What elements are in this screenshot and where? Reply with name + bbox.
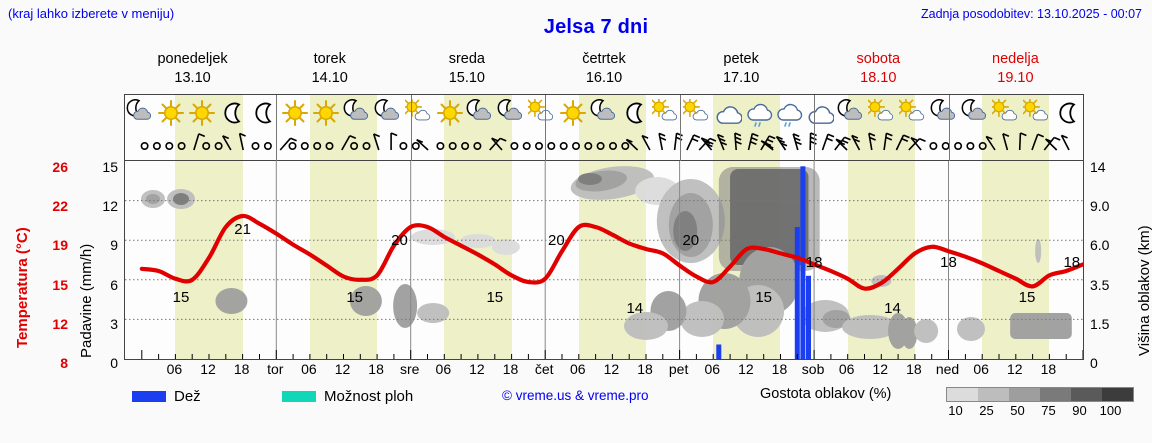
day-separator — [680, 95, 681, 161]
precipitation-axis-title: Padavine (mm/h) — [78, 244, 95, 358]
x-axis-label: tor — [267, 361, 283, 377]
temperature-label: 18 — [806, 254, 823, 271]
prec-tick: 0 — [110, 356, 118, 370]
cloud-density-tick: 100 — [1095, 403, 1126, 418]
cloud-density-swatch — [947, 388, 978, 401]
day-name: nedelja — [947, 50, 1084, 69]
day-header-sreda: sreda15.10 — [398, 50, 535, 92]
cloud-tick: 1.5 — [1090, 317, 1109, 331]
day-name: četrtek — [535, 50, 672, 69]
day-separator — [949, 95, 950, 161]
x-axis-label: 18 — [906, 361, 922, 377]
x-axis-label: 06 — [839, 361, 855, 377]
day-header-ponedeljek: ponedeljek13.10 — [124, 50, 261, 92]
chart-svg: 1521152015201420151814181518 — [125, 161, 1083, 359]
x-axis-label: 12 — [200, 361, 216, 377]
temp-tick: 26 — [52, 160, 68, 174]
legend-showers: Možnost ploh — [282, 388, 413, 405]
cloud-density-tick: 50 — [1002, 403, 1033, 418]
day-separators-strips — [125, 95, 1083, 161]
x-axis-label: 18 — [1041, 361, 1057, 377]
temperature-label: 20 — [391, 232, 408, 249]
cloud-density-tick: 90 — [1064, 403, 1095, 418]
x-axis-labels: 061218tor061218sre061218čet061218pet0612… — [124, 361, 1084, 381]
day-date: 18.10 — [810, 69, 947, 88]
day-date: 15.10 — [398, 69, 535, 88]
temp-tick: 19 — [52, 238, 68, 252]
cloud-density-colorbar-ticks: 1025507590100 — [940, 403, 1126, 418]
temperature-label: 18 — [1063, 254, 1080, 271]
temperature-axis-ticks: 26221915128 — [32, 160, 68, 370]
x-axis-label: 18 — [234, 361, 250, 377]
x-axis-label: 06 — [436, 361, 452, 377]
prec-tick: 12 — [102, 199, 118, 213]
temp-tick: 8 — [60, 356, 68, 370]
legend-rain: Dež — [132, 388, 201, 405]
cloud-density-swatch — [1009, 388, 1040, 401]
temperature-label: 15 — [173, 289, 190, 306]
day-name: petek — [673, 50, 810, 69]
day-header-petek: petek17.10 — [673, 50, 810, 92]
day-separator — [411, 95, 412, 161]
legend-rain-label: Dež — [174, 388, 201, 405]
temperature-label: 15 — [755, 289, 772, 306]
cloud-density-colorbar — [946, 387, 1134, 402]
temp-tick: 12 — [52, 317, 68, 331]
cloud-tick: 9.0 — [1090, 199, 1109, 213]
day-separator — [814, 95, 815, 161]
forecast-plot: 1521152015201420151814181518 — [124, 94, 1084, 360]
rain-swatch — [132, 391, 166, 402]
temperature-label: 15 — [486, 289, 503, 306]
x-axis-label: 18 — [637, 361, 653, 377]
x-axis-label: 18 — [772, 361, 788, 377]
x-axis-label: 18 — [368, 361, 384, 377]
day-date: 16.10 — [535, 69, 672, 88]
last-updated: Zadnja posodobitev: 13.10.2025 - 00:07 — [921, 7, 1142, 21]
cloud-density-tick: 10 — [940, 403, 971, 418]
cloud-density-swatch — [978, 388, 1009, 401]
day-name: sobota — [810, 50, 947, 69]
x-axis-label: 06 — [301, 361, 317, 377]
day-name: torek — [261, 50, 398, 69]
cloud-tick: 6.0 — [1090, 238, 1109, 252]
day-header-četrtek: četrtek16.10 — [535, 50, 672, 92]
cloud-density-tick: 75 — [1033, 403, 1064, 418]
temp-tick: 22 — [52, 199, 68, 213]
cloud-tick: 14 — [1090, 160, 1106, 174]
x-axis-label: 06 — [973, 361, 989, 377]
x-axis-label: 12 — [1007, 361, 1023, 377]
temperature-label: 20 — [548, 232, 565, 249]
temperature-value-labels: 1521152015201420151814181518 — [173, 221, 1080, 317]
day-header-nedelja: nedelja19.10 — [947, 50, 1084, 92]
precipitation-axis-ticks: 15129630 — [96, 160, 118, 370]
cloudheight-axis-ticks: 149.06.03.51.50 — [1090, 160, 1132, 370]
day-header-sobota: sobota18.10 — [810, 50, 947, 92]
cloud-density-swatch — [1040, 388, 1071, 401]
prec-tick: 9 — [110, 238, 118, 252]
prec-tick: 6 — [110, 278, 118, 292]
prec-tick: 3 — [110, 317, 118, 331]
x-axis-label: 06 — [704, 361, 720, 377]
day-name: ponedeljek — [124, 50, 261, 69]
temperature-label: 14 — [626, 300, 643, 317]
x-axis-label: 06 — [570, 361, 586, 377]
x-axis-label: sob — [802, 361, 825, 377]
cloud-tick: 3.5 — [1090, 278, 1109, 292]
prec-tick: 15 — [102, 160, 118, 174]
temperature-curve — [142, 216, 1083, 289]
day-date: 13.10 — [124, 69, 261, 88]
temperature-axis-title: Temperatura (°C) — [14, 227, 31, 348]
day-name: sreda — [398, 50, 535, 69]
x-axis-label: 06 — [167, 361, 183, 377]
x-axis-label: 12 — [469, 361, 485, 377]
temperature-label: 21 — [234, 221, 251, 238]
chart-canvas: 1521152015201420151814181518 — [125, 161, 1083, 359]
day-date: 17.10 — [673, 69, 810, 88]
x-axis-label: čet — [535, 361, 554, 377]
copyright-link[interactable]: © vreme.us & vreme.pro — [502, 388, 649, 403]
cloud-tick: 0 — [1090, 356, 1098, 370]
cloud-density-field — [141, 161, 1072, 349]
day-date: 14.10 — [261, 69, 398, 88]
day-separator — [545, 95, 546, 161]
x-axis-label: sre — [400, 361, 419, 377]
x-axis-label: pet — [669, 361, 688, 377]
x-axis-tick-marks — [142, 350, 1083, 359]
day-header-torek: torek14.10 — [261, 50, 398, 92]
showers-swatch — [282, 391, 316, 402]
x-axis-label: 18 — [503, 361, 519, 377]
temperature-label: 15 — [1019, 289, 1036, 306]
x-axis-label: 12 — [873, 361, 889, 377]
legend-showers-label: Možnost ploh — [324, 388, 413, 405]
temperature-label: 15 — [346, 289, 363, 306]
x-axis-label: 12 — [604, 361, 620, 377]
temp-tick: 15 — [52, 278, 68, 292]
temperature-label: 14 — [884, 300, 901, 317]
cloud-density-swatch — [1071, 388, 1102, 401]
x-axis-label: 12 — [738, 361, 754, 377]
day-separator — [276, 95, 277, 161]
cloud-density-swatch — [1102, 388, 1133, 401]
cloudheight-axis-title: Višina oblakov (km) — [1136, 225, 1152, 356]
cloud-density-tick: 25 — [971, 403, 1002, 418]
temperature-label: 18 — [940, 254, 957, 271]
cloud-density-legend-label: Gostota oblakov (%) — [760, 386, 891, 402]
day-headers: ponedeljek13.10torek14.10sreda15.10četrt… — [124, 50, 1084, 92]
day-date: 19.10 — [947, 69, 1084, 88]
x-axis-label: ned — [936, 361, 959, 377]
x-axis-label: 12 — [335, 361, 351, 377]
temperature-label: 20 — [682, 232, 699, 249]
